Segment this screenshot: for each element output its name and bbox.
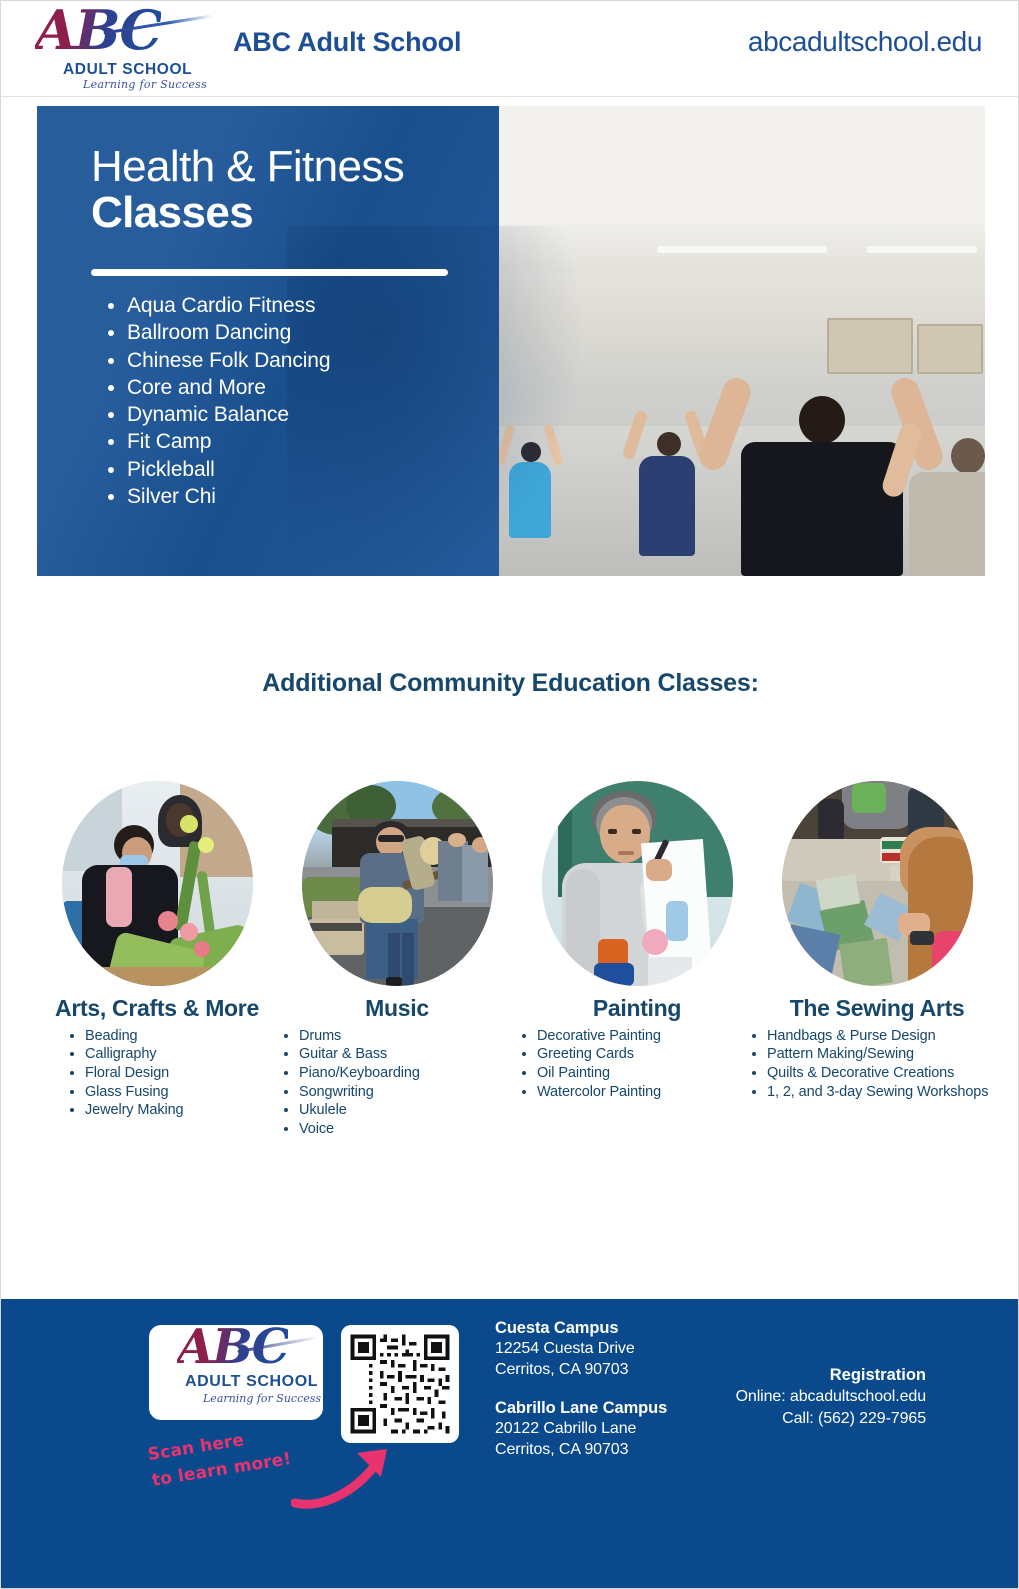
logo-abc-script: ABC	[35, 3, 161, 57]
list-item: Watercolor Painting	[537, 1083, 757, 1102]
campus-addresses: Cuesta Campus 12254 Cuesta Drive Cerrito…	[495, 1318, 667, 1461]
list-item: Quilts & Decorative Creations	[767, 1064, 997, 1083]
page-header: ABC ADULT SCHOOL Learning for Success AB…	[1, 1, 1019, 97]
list-item: Jewelry Making	[85, 1101, 277, 1120]
list-item: Fit Camp	[127, 428, 330, 455]
list-item: Ukulele	[299, 1101, 517, 1120]
list-item: Silver Chi	[127, 483, 330, 510]
campus-name: Cabrillo Lane Campus	[495, 1398, 667, 1419]
hero-title-line1: Health & Fitness	[91, 144, 481, 190]
qr-code-card[interactable]	[341, 1325, 459, 1443]
campus-address: 20122 Cabrillo Lane	[495, 1419, 667, 1440]
list-item: Handbags & Purse Design	[767, 1027, 997, 1046]
list-item: Beading	[85, 1027, 277, 1046]
campus-address: 12254 Cuesta Drive	[495, 1339, 667, 1360]
hero-class-list: Aqua Cardio Fitness Ballroom Dancing Chi…	[101, 292, 330, 510]
registration-online[interactable]: Online: abcadultschool.edu	[736, 1386, 926, 1408]
quilting-photo	[782, 781, 973, 986]
category-painting: Painting Decorative Painting Greeting Ca…	[517, 781, 757, 1138]
category-item-list: Decorative Painting Greeting Cards Oil P…	[517, 1027, 757, 1101]
list-item: Pickleball	[127, 456, 330, 483]
header-website-url[interactable]: abcadultschool.edu	[748, 26, 982, 58]
list-item: Guitar & Bass	[299, 1045, 517, 1064]
list-item: Oil Painting	[537, 1064, 757, 1083]
list-item: Calligraphy	[85, 1045, 277, 1064]
page-footer: ABC ADULT SCHOOL Learning for Success Sc…	[1, 1299, 1019, 1588]
category-music: Music Drums Guitar & Bass Piano/Keyboard…	[277, 781, 517, 1138]
logo-adult-school-text: ADULT SCHOOL	[63, 61, 192, 79]
list-item: Piano/Keyboarding	[299, 1064, 517, 1083]
category-item-list: Handbags & Purse Design Pattern Making/S…	[757, 1027, 997, 1101]
registration-title: Registration	[736, 1364, 926, 1386]
header-logo: ABC ADULT SCHOOL Learning for Success	[31, 7, 211, 91]
list-item: Ballroom Dancing	[127, 319, 330, 346]
list-item: Decorative Painting	[537, 1027, 757, 1046]
additional-classes-heading: Additional Community Education Classes:	[1, 669, 1019, 698]
category-title: The Sewing Arts	[757, 996, 997, 1021]
qr-code-icon[interactable]	[347, 1331, 453, 1437]
logo-tagline: Learning for Success	[83, 78, 207, 91]
list-item: Songwriting	[299, 1083, 517, 1102]
category-item-list: Drums Guitar & Bass Piano/Keyboarding So…	[277, 1027, 517, 1139]
footer-logo-tagline: Learning for Success	[203, 1392, 321, 1405]
list-item: Glass Fusing	[85, 1083, 277, 1102]
category-item-list: Beading Calligraphy Floral Design Glass …	[37, 1027, 277, 1120]
list-item: Voice	[299, 1120, 517, 1139]
footer-logo: ABC ADULT SCHOOL Learning for Success	[149, 1325, 323, 1420]
painter-photo	[542, 781, 733, 986]
hero-title-line2: Classes	[91, 190, 481, 236]
category-title: Music	[277, 996, 517, 1021]
list-item: Chinese Folk Dancing	[127, 347, 330, 374]
registration-phone[interactable]: Call: (562) 229-7965	[736, 1408, 926, 1430]
flyer-page: ABC ADULT SCHOOL Learning for Success AB…	[0, 0, 1019, 1589]
category-columns: Arts, Crafts & More Beading Calligraphy …	[37, 781, 997, 1138]
list-item: Drums	[299, 1027, 517, 1046]
hero-divider	[91, 269, 448, 276]
list-item: Greeting Cards	[537, 1045, 757, 1064]
campus-city: Cerritos, CA 90703	[495, 1440, 667, 1461]
campus-city: Cerritos, CA 90703	[495, 1360, 667, 1381]
category-title: Painting	[517, 996, 757, 1021]
curved-arrow-icon	[291, 1441, 401, 1511]
floral-design-photo	[62, 781, 253, 986]
list-item: Pattern Making/Sewing	[767, 1045, 997, 1064]
category-title: Arts, Crafts & More	[37, 996, 277, 1021]
campus-name: Cuesta Campus	[495, 1318, 667, 1339]
guitar-player-photo	[302, 781, 493, 986]
list-item: Floral Design	[85, 1064, 277, 1083]
category-arts-crafts: Arts, Crafts & More Beading Calligraphy …	[37, 781, 277, 1138]
hero-title: Health & Fitness Classes	[91, 144, 481, 236]
category-sewing: The Sewing Arts Handbags & Purse Design …	[757, 781, 997, 1138]
list-item: Core and More	[127, 374, 330, 401]
list-item: 1, 2, and 3-day Sewing Workshops	[767, 1083, 997, 1102]
list-item: Dynamic Balance	[127, 401, 330, 428]
footer-logo-adult-school-text: ADULT SCHOOL	[185, 1373, 318, 1391]
hero-banner: Health & Fitness Classes Aqua Cardio Fit…	[37, 106, 985, 576]
registration-info: Registration Online: abcadultschool.edu …	[736, 1364, 926, 1429]
page-title: ABC Adult School	[233, 27, 461, 58]
list-item: Aqua Cardio Fitness	[127, 292, 330, 319]
